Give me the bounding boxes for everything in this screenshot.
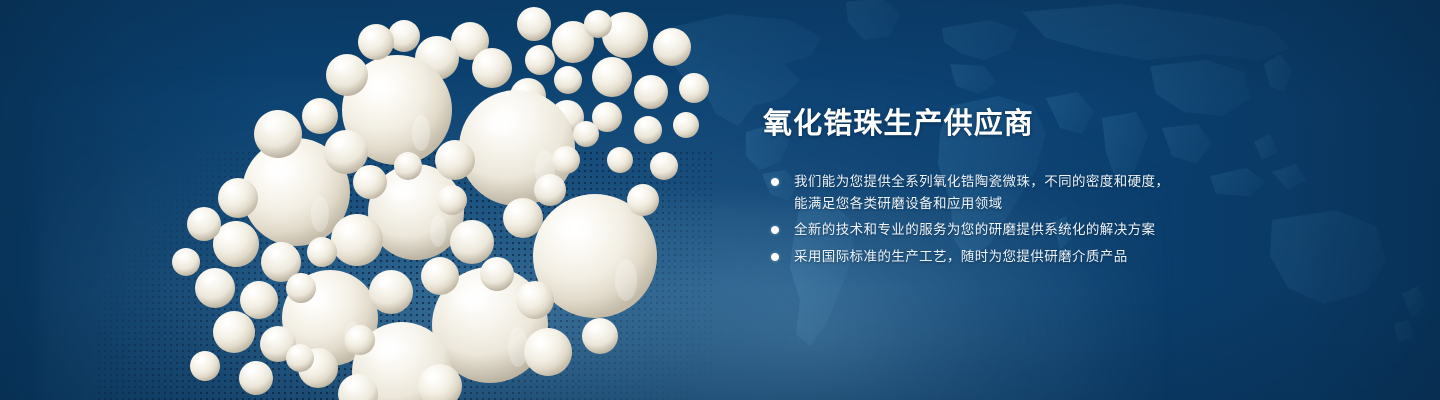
hero-banner: 氧化锆珠生产供应商 我们能为您提供全系列氧化锆陶瓷微珠，不同的密度和硬度， 能满…: [0, 0, 1440, 400]
bullet-text-line-1: 全新的技术和专业的服务为您的研磨提供系统化的解决方案: [794, 222, 1155, 237]
bullet-text-line-2: 能满足您各类研磨设备和应用领域: [794, 193, 1383, 215]
page-title: 氧化锆珠生产供应商: [763, 104, 1383, 144]
bullet-dot-icon: [771, 178, 779, 186]
banner-copy: 氧化锆珠生产供应商 我们能为您提供全系列氧化锆陶瓷微珠，不同的密度和硬度， 能满…: [763, 104, 1383, 267]
bullet-text-line-1: 我们能为您提供全系列氧化锆陶瓷微珠，不同的密度和硬度，: [794, 174, 1169, 189]
bullet-dot-icon: [771, 253, 779, 261]
bullet-dot-icon: [771, 226, 779, 234]
zirconia-beads-photo: [0, 0, 760, 400]
list-item: 我们能为您提供全系列氧化锆陶瓷微珠，不同的密度和硬度， 能满足您各类研磨设备和应…: [763, 171, 1383, 214]
bullet-text-line-1: 采用国际标准的生产工艺，随时为您提供研磨介质产品: [794, 249, 1128, 264]
list-item: 全新的技术和专业的服务为您的研磨提供系统化的解决方案: [763, 219, 1383, 241]
feature-bullet-list: 我们能为您提供全系列氧化锆陶瓷微珠，不同的密度和硬度， 能满足您各类研磨设备和应…: [763, 171, 1383, 267]
list-item: 采用国际标准的生产工艺，随时为您提供研磨介质产品: [763, 246, 1383, 268]
